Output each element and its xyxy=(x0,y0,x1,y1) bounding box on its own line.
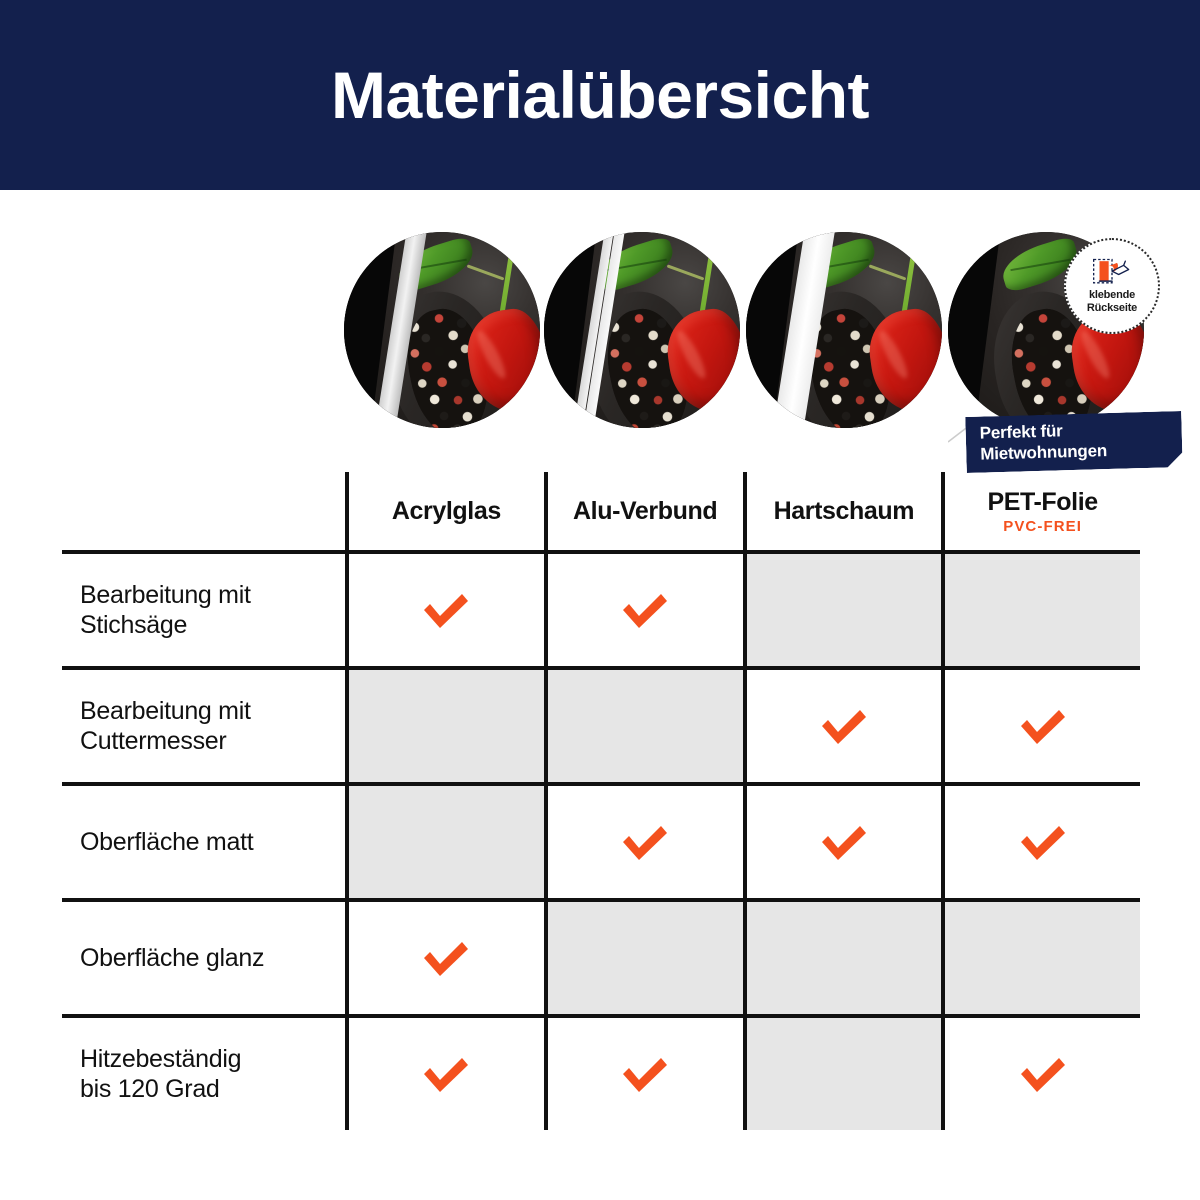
row-label-text: Bearbeitung mit Stichsäge xyxy=(80,580,251,641)
cell-r1-c1 xyxy=(544,670,743,782)
cell-r3-c0 xyxy=(345,902,544,1014)
check-icon xyxy=(418,936,474,980)
cell-r3-c3 xyxy=(941,902,1140,1014)
badge-label-line2: Rückseite xyxy=(1087,302,1137,314)
adhesive-back-badge[interactable]: klebende Rückseite xyxy=(1064,238,1160,334)
cell-r0-c1 xyxy=(544,554,743,666)
chili-highlight xyxy=(876,329,912,382)
cell-r2-c1 xyxy=(544,786,743,898)
row-label-text: Hitzebeständig bis 120 Grad xyxy=(80,1044,241,1105)
row-label-oberflaeche-glanz: Oberfläche glanz xyxy=(62,902,345,1014)
row-label-text: Bearbeitung mit Cuttermesser xyxy=(80,696,251,757)
chili-highlight xyxy=(1078,329,1114,382)
product-image-hartschaum[interactable] xyxy=(746,232,942,428)
check-icon xyxy=(1015,1052,1071,1096)
row-label-line1: Oberfläche matt xyxy=(80,828,253,856)
cell-r3-c1 xyxy=(544,902,743,1014)
check-icon xyxy=(617,1052,673,1096)
cell-r4-c2 xyxy=(743,1018,942,1130)
row-label-line1: Hitzebeständig xyxy=(80,1045,241,1073)
cell-r4-c1 xyxy=(544,1018,743,1130)
row-label-line2: bis 120 Grad xyxy=(80,1075,220,1103)
cell-r1-c2 xyxy=(743,670,942,782)
rental-suitability-ribbon: Perfekt für Mietwohnungen xyxy=(965,411,1182,473)
cell-r2-c0 xyxy=(345,786,544,898)
row-label-line1: Bearbeitung mit xyxy=(80,697,251,725)
product-photo xyxy=(544,232,740,428)
material-overview-page: Materialübersicht xyxy=(0,0,1200,1200)
leaf-vein xyxy=(407,258,468,271)
cell-r1-c0 xyxy=(345,670,544,782)
chili-highlight xyxy=(674,329,710,382)
column-title: Hartschaum xyxy=(774,497,915,526)
badge-label-line1: klebende xyxy=(1089,289,1135,301)
row-label-line1: Oberfläche glanz xyxy=(80,944,264,972)
row-label-text: Oberfläche glanz xyxy=(80,943,264,974)
row-label-hitzebestaendig: Hitzebeständig bis 120 Grad xyxy=(62,1018,345,1130)
cell-r3-c2 xyxy=(743,902,942,1014)
cell-r4-c3 xyxy=(941,1018,1140,1130)
leaf-vein xyxy=(607,258,668,271)
cell-r4-c0 xyxy=(345,1018,544,1130)
row-label-stichsaege: Bearbeitung mit Stichsäge xyxy=(62,554,345,666)
leaf-vein xyxy=(809,258,870,271)
check-icon xyxy=(816,820,872,864)
row-label-line2: Cuttermesser xyxy=(80,727,226,755)
check-icon xyxy=(1015,820,1071,864)
cell-r2-c2 xyxy=(743,786,942,898)
header-banner: Materialübersicht xyxy=(0,0,1200,190)
column-title: Acrylglas xyxy=(392,497,501,526)
check-icon xyxy=(418,588,474,632)
badge-label: klebende Rückseite xyxy=(1087,289,1137,314)
row-label-oberflaeche-matt: Oberfläche matt xyxy=(62,786,345,898)
column-header-pet-folie: PET-Folie PVC-FREI xyxy=(941,472,1140,550)
ribbon-line-2: Mietwohnungen xyxy=(980,439,1183,465)
check-icon xyxy=(418,1052,474,1096)
column-header-hartschaum: Hartschaum xyxy=(743,472,942,550)
row-label-line1: Bearbeitung mit xyxy=(80,581,251,609)
page-title: Materialübersicht xyxy=(331,62,869,128)
column-title: Alu-Verbund xyxy=(573,497,717,526)
row-label-text: Oberfläche matt xyxy=(80,827,253,858)
column-badge-pvc-frei: PVC-FREI xyxy=(1003,518,1082,535)
cell-r1-c3 xyxy=(941,670,1140,782)
column-header-acrylglas: Acrylglas xyxy=(345,472,544,550)
column-title: PET-Folie xyxy=(987,488,1097,517)
cell-r0-c3 xyxy=(941,554,1140,666)
column-header-alu-verbund: Alu-Verbund xyxy=(544,472,743,550)
table-row: Bearbeitung mit Stichsäge xyxy=(62,550,1140,666)
material-comparison-table: Acrylglas Alu-Verbund Hartschaum PET-Fol… xyxy=(62,472,1140,1130)
check-icon xyxy=(816,704,872,748)
row-label-line2: Stichsäge xyxy=(80,611,187,639)
check-icon xyxy=(617,820,673,864)
product-image-alu-verbund[interactable] xyxy=(544,232,740,428)
row-label-cuttermesser: Bearbeitung mit Cuttermesser xyxy=(62,670,345,782)
table-row: Bearbeitung mit Cuttermesser xyxy=(62,666,1140,782)
header-corner-cell xyxy=(62,472,345,550)
chili-highlight xyxy=(474,329,510,382)
table-row: Oberfläche matt xyxy=(62,782,1140,898)
cell-r2-c3 xyxy=(941,786,1140,898)
product-photo xyxy=(746,232,942,428)
product-photo xyxy=(344,232,540,428)
table-header-row: Acrylglas Alu-Verbund Hartschaum PET-Fol… xyxy=(62,472,1140,550)
table-row: Hitzebeständig bis 120 Grad xyxy=(62,1014,1140,1130)
leaf-vein xyxy=(1011,258,1072,271)
cell-r0-c0 xyxy=(345,554,544,666)
check-icon xyxy=(617,588,673,632)
check-icon xyxy=(1015,704,1071,748)
product-image-acrylglas[interactable] xyxy=(344,232,540,428)
table-row: Oberfläche glanz xyxy=(62,898,1140,1014)
cell-r0-c2 xyxy=(743,554,942,666)
adhesive-back-icon xyxy=(1092,257,1132,287)
